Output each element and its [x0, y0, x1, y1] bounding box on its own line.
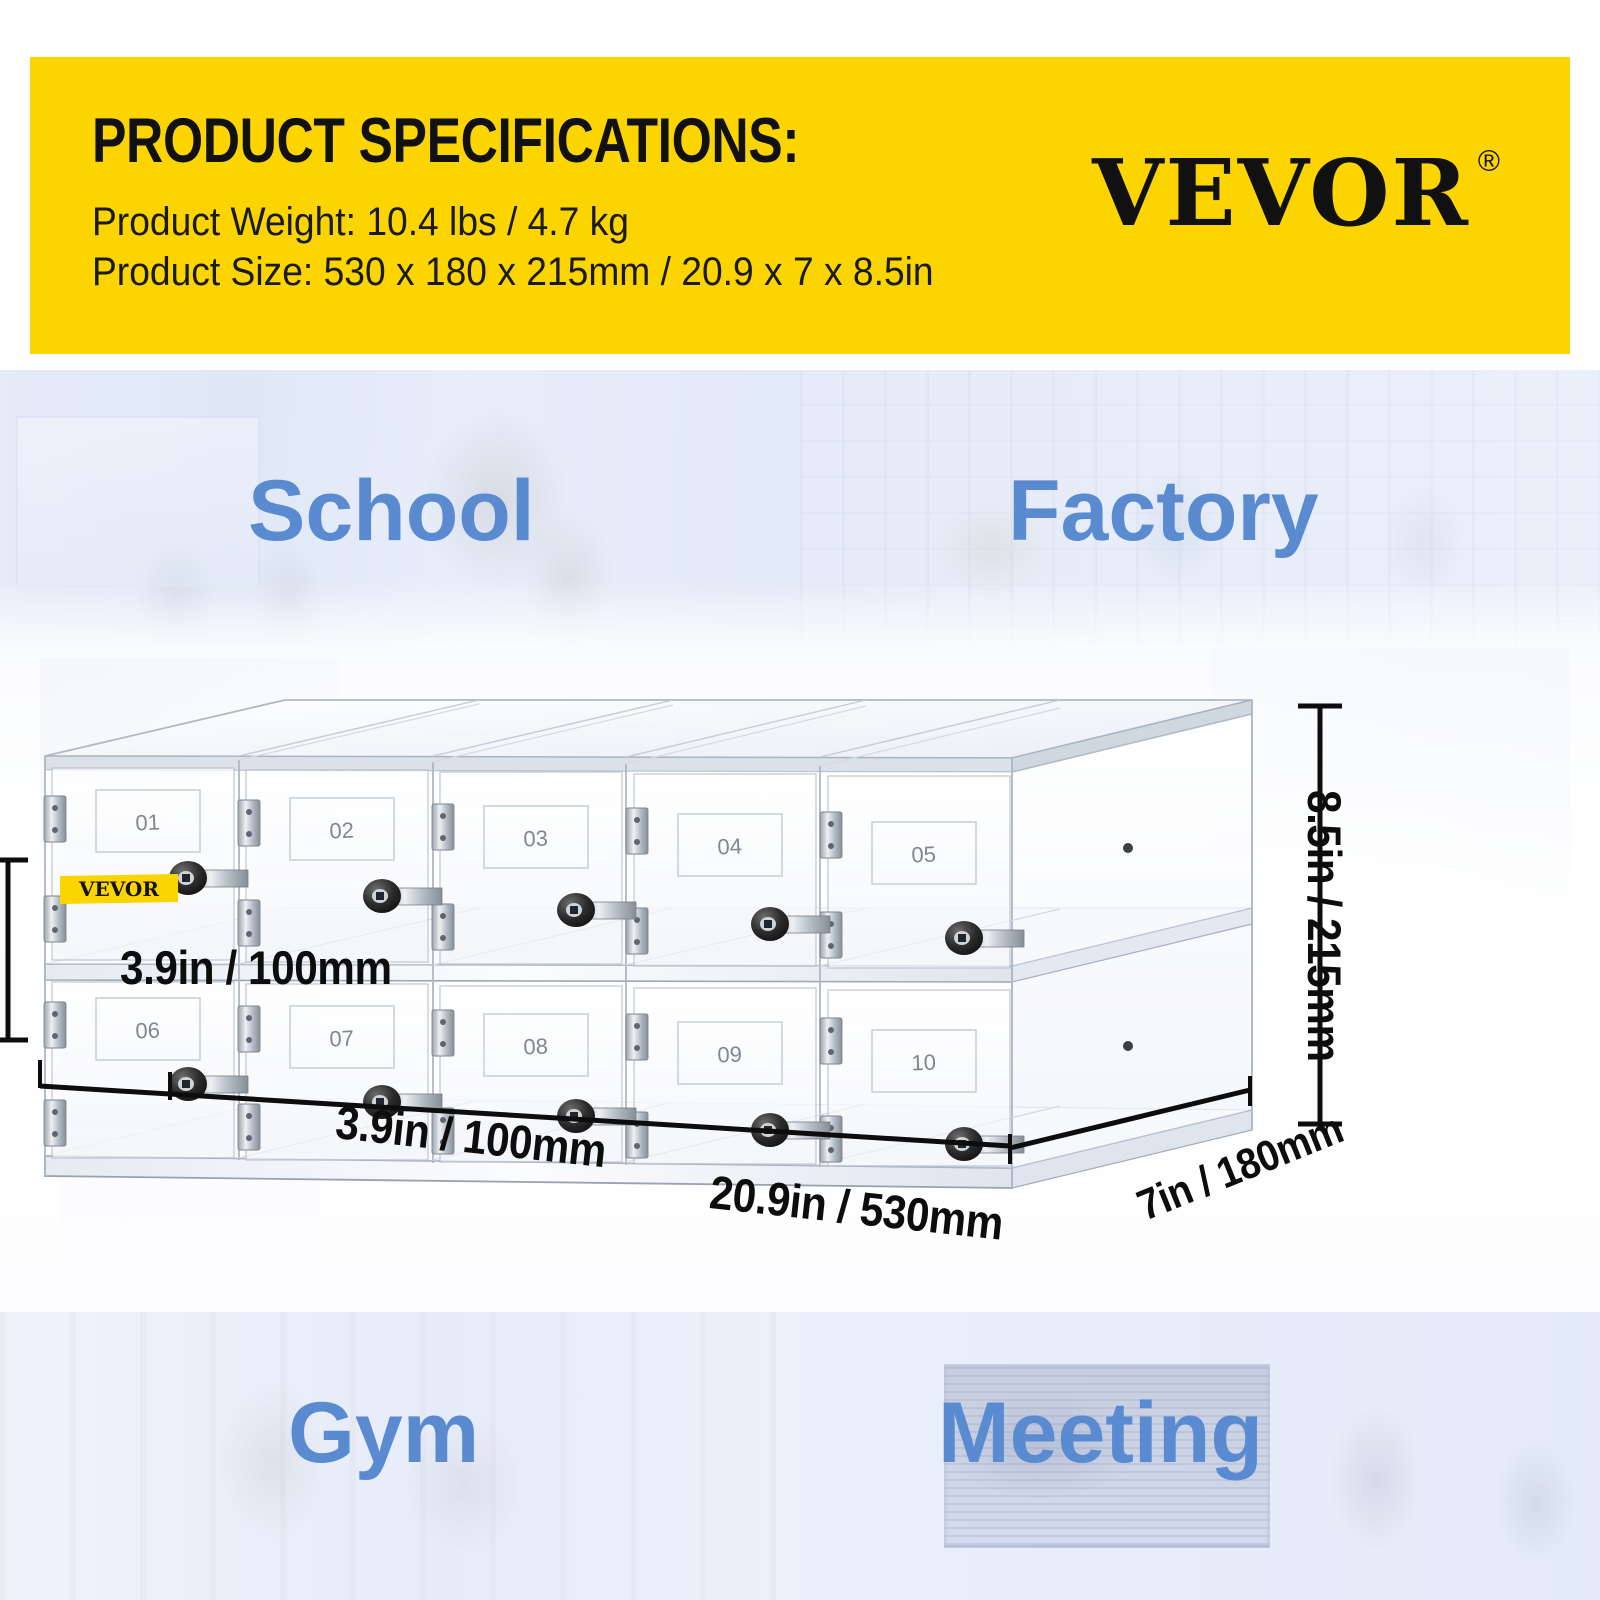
svg-text:10: 10: [911, 1049, 937, 1075]
svg-text:01: 01: [135, 809, 161, 835]
scene-label-gym: Gym: [288, 1390, 479, 1476]
product-spec-image: School Factory: [0, 0, 1600, 1600]
vevor-logo-text: VEVOR: [1092, 139, 1470, 247]
dimension-total-height: 8.5in / 215mm: [1297, 790, 1352, 1062]
svg-text:08: 08: [523, 1033, 549, 1059]
dimension-compartment-height: 3.9in / 100mm: [120, 940, 392, 995]
scene-band-bottom: [0, 1312, 1600, 1600]
svg-text:07: 07: [329, 1025, 355, 1051]
svg-text:02: 02: [329, 817, 355, 843]
svg-text:03: 03: [523, 825, 549, 851]
spec-product-size: Product Size: 530 x 180 x 215mm / 20.9 x…: [92, 250, 934, 295]
svg-text:09: 09: [717, 1041, 743, 1067]
svg-text:06: 06: [135, 1017, 161, 1043]
spec-product-weight: Product Weight: 10.4 lbs / 4.7 kg: [92, 200, 629, 245]
registered-trademark-icon: ®: [1478, 145, 1502, 179]
scene-label-meeting: Meeting: [938, 1390, 1263, 1476]
specifications-banner: PRODUCT SPECIFICATIONS: Product Weight: …: [30, 57, 1570, 354]
page-title: PRODUCT SPECIFICATIONS:: [92, 105, 799, 177]
svg-text:05: 05: [911, 841, 937, 867]
vevor-logo: VEVOR ®: [1092, 139, 1470, 247]
svg-text:VEVOR: VEVOR: [78, 877, 159, 901]
scene-label-school: School: [248, 468, 535, 554]
scene-label-factory: Factory: [1008, 468, 1319, 554]
scene-band-top: [0, 370, 1600, 658]
svg-text:04: 04: [717, 833, 743, 859]
